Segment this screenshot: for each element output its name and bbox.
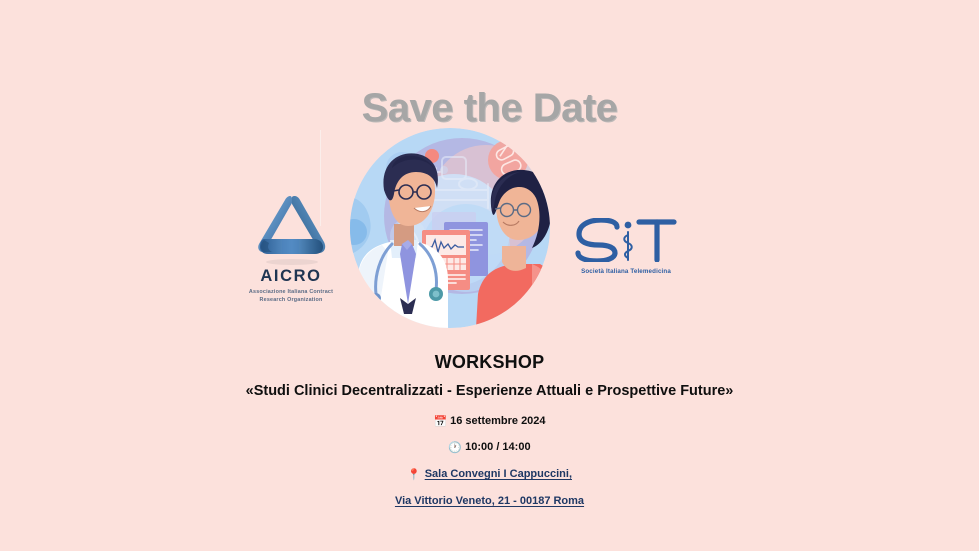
aicro-logo-name: AICRO bbox=[232, 268, 350, 285]
calendar-icon: 📅 bbox=[433, 415, 447, 428]
event-date-line: 📅16 settembre 2024 bbox=[0, 415, 979, 428]
venue-link-1[interactable]: Sala Convegni I Cappuccini, bbox=[425, 468, 572, 480]
aicro-subtitle-line-2: Research Organization bbox=[232, 296, 350, 304]
sit-logo-subtitle: Società Italiana Telemedicina bbox=[573, 268, 679, 275]
venue-line-2: Via Vittorio Veneto, 21 - 00187 Roma bbox=[0, 495, 979, 507]
doctor-patient-illustration bbox=[336, 128, 564, 328]
event-time-line: 🕐10:00 / 14:00 bbox=[0, 441, 979, 454]
map-pin-icon: 📍 bbox=[407, 468, 421, 481]
event-time-text: 10:00 / 14:00 bbox=[465, 441, 530, 453]
workshop-title: WORKSHOP bbox=[0, 352, 979, 373]
aicro-subtitle-line-1: Associazione Italiana Contract bbox=[232, 288, 350, 296]
venue-link-2[interactable]: Via Vittorio Veneto, 21 - 00187 Roma bbox=[395, 495, 584, 507]
aicro-triangle-icon bbox=[252, 192, 330, 262]
venue-line-1: 📍Sala Convegni I Cappuccini, bbox=[0, 468, 979, 481]
aicro-logo-shadow bbox=[266, 259, 318, 265]
sit-logo: Società Italiana Telemedicina bbox=[573, 218, 679, 274]
page-title: Save the Date bbox=[0, 86, 979, 131]
aicro-logo-subtitle: Associazione Italiana Contract Research … bbox=[232, 288, 350, 304]
clock-icon: 🕐 bbox=[448, 441, 462, 454]
aicro-logo: AICRO Associazione Italiana Contract Res… bbox=[232, 192, 350, 302]
workshop-subtitle: «Studi Clinici Decentralizzati - Esperie… bbox=[0, 383, 979, 399]
event-date-text: 16 settembre 2024 bbox=[450, 415, 545, 427]
sit-logo-mark-icon bbox=[573, 218, 679, 267]
save-the-date-slide: Save the Date bbox=[0, 0, 979, 551]
